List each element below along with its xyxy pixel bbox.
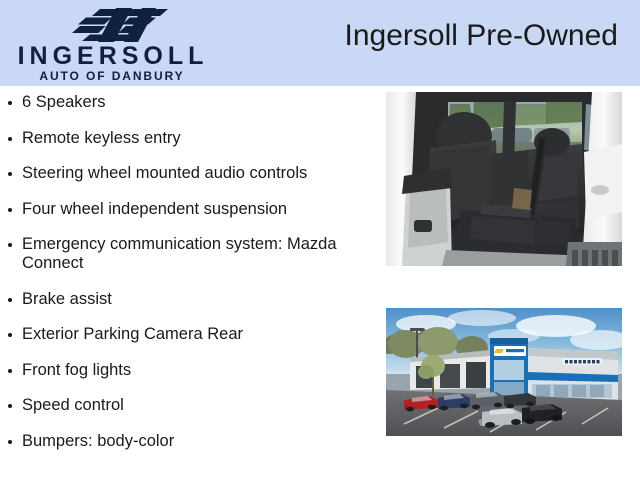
logo-subwordmark: AUTO OF DANBURY	[8, 70, 216, 82]
bullet-icon	[8, 172, 12, 176]
bullet-icon	[8, 369, 12, 373]
list-item-label: Exterior Parking Camera Rear	[22, 325, 243, 343]
logo-wordmark: INGERSOLL	[8, 44, 218, 69]
page-title: Ingersoll Pre-Owned	[345, 19, 618, 53]
bullet-icon	[8, 333, 12, 337]
list-item: Brake assist	[0, 290, 378, 309]
bullet-icon	[8, 440, 12, 444]
list-item: Four wheel independent suspension	[0, 200, 378, 219]
vehicle-rear-seat-interior-photo	[386, 92, 622, 266]
list-item: Bumpers: body-color	[0, 432, 378, 451]
list-item-label: Brake assist	[22, 290, 112, 308]
list-item-label: Steering wheel mounted audio controls	[22, 164, 307, 182]
brand-logo: INGERSOLL AUTO OF DANBURY	[8, 4, 218, 84]
bullet-icon	[8, 404, 12, 408]
list-item-label: Emergency communication system: Mazda Co…	[22, 235, 337, 272]
bullet-icon	[8, 101, 12, 105]
list-item-label: Front fog lights	[22, 361, 131, 379]
list-item: 6 Speakers	[0, 93, 378, 112]
bullet-icon	[8, 208, 12, 212]
list-item-label: Remote keyless entry	[22, 129, 181, 147]
vehicle-feature-list: 6 Speakers Remote keyless entry Steering…	[0, 86, 378, 467]
list-item-label: 6 Speakers	[22, 93, 105, 111]
list-item: Speed control	[0, 396, 378, 415]
bullet-icon	[8, 137, 12, 141]
list-item: Remote keyless entry	[0, 129, 378, 148]
list-item: Steering wheel mounted audio controls	[0, 164, 378, 183]
bullet-icon	[8, 243, 12, 247]
list-item: Emergency communication system: Mazda Co…	[0, 235, 378, 273]
list-item-label: Four wheel independent suspension	[22, 200, 287, 218]
dealership-exterior-photo	[386, 308, 622, 436]
list-item: Front fog lights	[0, 361, 378, 380]
ingersoll-wing-emblem-icon	[56, 6, 176, 44]
header-band: INGERSOLL AUTO OF DANBURY Ingersoll Pre-…	[0, 0, 640, 86]
list-item-label: Speed control	[22, 396, 124, 414]
bullet-icon	[8, 298, 12, 302]
list-item-label: Bumpers: body-color	[22, 432, 174, 450]
list-item: Exterior Parking Camera Rear	[0, 325, 378, 344]
